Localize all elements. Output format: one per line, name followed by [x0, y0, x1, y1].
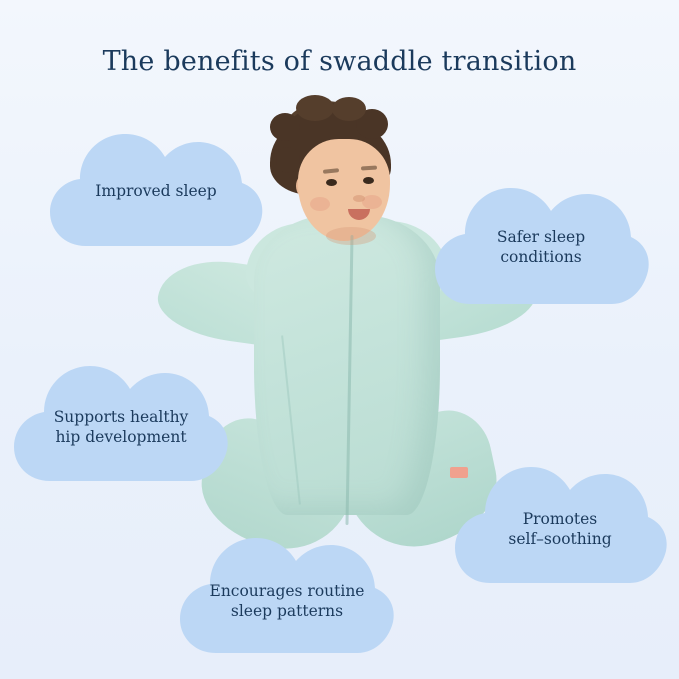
benefit-label: Improved sleep — [46, 118, 266, 248]
benefit-cloud-improved-sleep: Improved sleep — [46, 118, 266, 248]
page-title: The benefits of swaddle transition — [0, 46, 679, 77]
benefit-cloud-safer-sleep-conditions: Safer sleep conditions — [432, 168, 650, 308]
baby-eye — [363, 177, 374, 184]
baby-eye — [326, 179, 337, 186]
baby-hair-curl — [270, 113, 300, 141]
benefit-cloud-supports-healthy-hip-development: Supports healthy hip development — [10, 348, 232, 484]
baby-cheek — [310, 197, 330, 211]
baby-nose — [353, 195, 365, 202]
baby-cheek — [362, 195, 382, 209]
benefit-cloud-promotes-self-soothing: Promotes self–soothing — [452, 448, 668, 586]
benefit-label: Supports healthy hip development — [10, 348, 232, 484]
baby-hair-curl — [276, 147, 300, 173]
benefit-label: Safer sleep conditions — [432, 168, 650, 308]
benefit-label: Promotes self–soothing — [452, 448, 668, 586]
baby-hair-curl — [296, 95, 334, 121]
benefit-label: Encourages routine sleep patterns — [176, 520, 398, 656]
baby-hair-curl — [332, 97, 366, 121]
infographic-canvas: The benefits of swaddle transition — [0, 0, 679, 679]
baby-chin — [326, 227, 376, 245]
benefit-cloud-encourages-routine-sleep-patterns: Encourages routine sleep patterns — [176, 520, 398, 656]
